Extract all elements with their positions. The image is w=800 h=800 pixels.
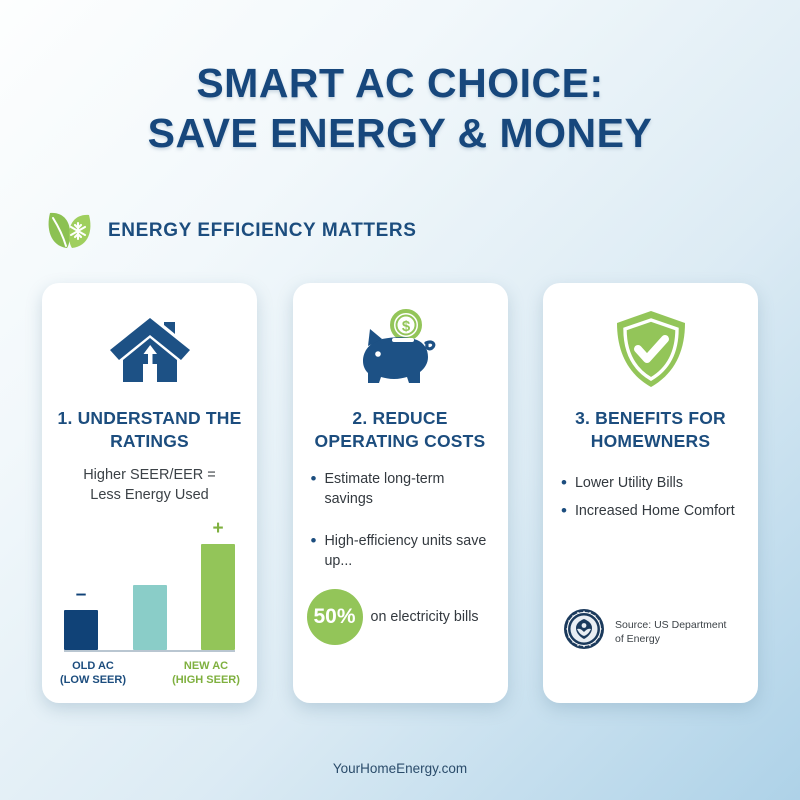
piggy-bank-coin-icon: $ [352, 307, 448, 393]
bullet-dot-icon: • [561, 473, 567, 492]
bar-sign-minus: – [76, 588, 87, 606]
shield-check-icon [612, 307, 690, 393]
chart-label-old-ac: OLD AC (LOW SEER) [50, 659, 136, 687]
card-title: 2. REDUCE OPERATING COSTS [305, 407, 496, 453]
chart-label-old-line1: OLD AC [72, 660, 114, 672]
card-subtitle: Higher SEER/EER = Less Energy Used [83, 465, 216, 505]
card-reduce-costs[interactable]: $ 2. REDUCE OPERATING COSTS • Estimate l… [293, 283, 508, 703]
list-item-label: Lower Utility Bills [575, 473, 683, 493]
list-item-label: Estimate long-term savings [324, 469, 489, 509]
benefit-list: • Lower Utility Bills • Increased Home C… [555, 473, 746, 529]
title-line-1: SMART AC CHOICE: [0, 58, 800, 108]
seer-bar-chart: – + OLD AC (LOW SEER) [42, 520, 257, 687]
card-subtitle-line-1: Higher SEER/EER = [83, 467, 216, 483]
benefit-list: • Estimate long-term savings • High-effi… [305, 469, 496, 593]
list-item: • Estimate long-term savings [311, 469, 490, 509]
list-item-label: Increased Home Comfort [575, 501, 735, 521]
badge-caption: on electricity bills [371, 609, 479, 625]
card-title: 1. UNDERSTAND THE RATINGS [54, 407, 245, 453]
bar-old-ac [64, 610, 98, 650]
chart-label-new-ac: NEW AC (HIGH SEER) [163, 659, 249, 687]
card-understand-ratings[interactable]: 1. UNDERSTAND THE RATINGS Higher SEER/EE… [42, 283, 257, 703]
card-title: 3. BENEFITS FOR HOMEWNERS [555, 407, 746, 453]
bullet-dot-icon: • [561, 501, 567, 520]
chart-label-old-line2: (LOW SEER) [60, 674, 126, 686]
chart-plot-area: – + [64, 520, 235, 652]
source-label: Source: US Department of Energy [615, 618, 735, 646]
bar-new-ac [201, 544, 235, 650]
list-item-label: High-efficiency units save up... [324, 531, 489, 571]
eyebrow-row: ENERGY EFFICIENCY MATTERS [44, 206, 416, 255]
source-row: Source: US Department of Energy [563, 608, 735, 655]
page-title: SMART AC CHOICE: SAVE ENERGY & MONEY [0, 58, 800, 158]
list-item: • High-efficiency units save up... [311, 531, 490, 571]
house-arrow-up-icon [107, 307, 193, 393]
list-item: • Lower Utility Bills [561, 473, 740, 493]
bar-sign-plus: + [212, 522, 223, 540]
card-benefits-homeowners[interactable]: 3. BENEFITS FOR HOMEWNERS • Lower Utilit… [543, 283, 758, 703]
bar-column-new-ac: + [201, 520, 235, 650]
svg-text:$: $ [402, 318, 411, 335]
card-subtitle-line-2: Less Energy Used [90, 487, 208, 503]
footer-site: YourHomeEnergy.com [0, 761, 800, 776]
card-row: 1. UNDERSTAND THE RATINGS Higher SEER/EE… [42, 283, 758, 703]
us-doe-seal-icon [563, 608, 605, 655]
chart-tick-labels: OLD AC (LOW SEER) NEW AC (HIGH SEER) [50, 659, 249, 687]
infographic-page: SMART AC CHOICE: SAVE ENERGY & MONEY [0, 0, 800, 800]
bullet-dot-icon: • [311, 531, 317, 550]
status-badge: 50% [307, 589, 363, 645]
title-line-2: SAVE ENERGY & MONEY [0, 108, 800, 158]
savings-badge-row: 50% on electricity bills [307, 589, 479, 645]
chart-label-new-line1: NEW AC [184, 660, 228, 672]
bar-mid [133, 585, 167, 650]
chart-label-new-line2: (HIGH SEER) [172, 674, 240, 686]
eyebrow-label: ENERGY EFFICIENCY MATTERS [108, 220, 416, 242]
bullet-dot-icon: • [311, 469, 317, 488]
bar-column-mid [133, 520, 167, 650]
leaf-snowflake-icon [44, 206, 94, 255]
list-item: • Increased Home Comfort [561, 501, 740, 521]
bar-column-old-ac: – [64, 520, 98, 650]
